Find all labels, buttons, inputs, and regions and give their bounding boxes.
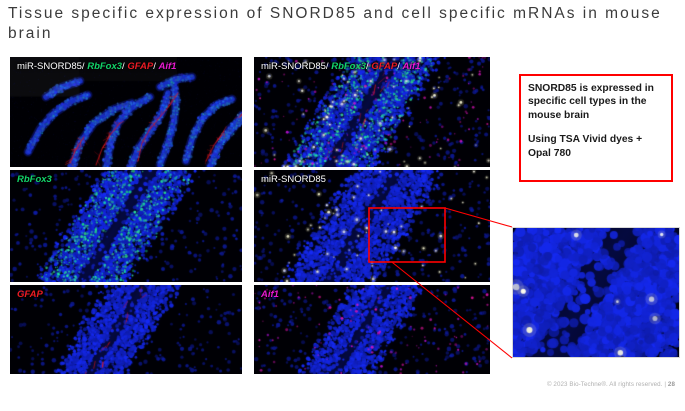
panel-overview-merged-label-seg-5: Aif1 (158, 61, 176, 72)
callout-line-2: Using TSA Vivid dyes + Opal 780 (528, 133, 664, 160)
panel-snord85-image (254, 170, 490, 282)
panel-highmag-merged-label-seg-1: RbFox3 (331, 61, 366, 72)
panel-aif1: Aif1 (254, 285, 490, 374)
panel-overview-merged-label-seg-1: RbFox3 (87, 61, 122, 72)
panel-rbfox3: RbFox3 (10, 170, 242, 282)
panel-gfap-label-seg-0: GFAP (17, 289, 43, 300)
panel-aif1-label: Aif1 (261, 289, 279, 301)
panel-highmag-merged-label-seg-5: Aif1 (402, 61, 420, 72)
inset-image (513, 228, 679, 357)
panel-aif1-image (254, 285, 490, 374)
panel-overview-merged: miR-SNORD85/ RbFox3/ GFAP/ Aif1 (10, 57, 242, 167)
panel-overview-merged-label: miR-SNORD85/ RbFox3/ GFAP/ Aif1 (17, 61, 176, 73)
callout-line-1: SNORD85 is expressed in specific cell ty… (528, 82, 664, 122)
slide-title: Tissue specific expression of SNORD85 an… (8, 4, 668, 44)
callout-box: SNORD85 is expressed in specific cell ty… (519, 74, 673, 182)
footer-page-number: 28 (668, 381, 675, 388)
panel-gfap: GFAP (10, 285, 242, 374)
panel-highmag-merged-label-seg-3: GFAP (371, 61, 397, 72)
inset-snord85-magnified (512, 227, 680, 358)
micrograph-panel-grid: miR-SNORD85/ RbFox3/ GFAP/ Aif1miR-SNORD… (4, 55, 492, 376)
footer-text: © 2023 Bio-Techne®. All rights reserved.… (547, 381, 668, 388)
panel-gfap-image (10, 285, 242, 374)
panel-highmag-merged-label: miR-SNORD85/ RbFox3/ GFAP/ Aif1 (261, 61, 420, 73)
panel-snord85: miR-SNORD85 (254, 170, 490, 282)
panel-gfap-label: GFAP (17, 289, 43, 301)
panel-snord85-label: miR-SNORD85 (261, 174, 326, 186)
panel-rbfox3-label-seg-0: RbFox3 (17, 174, 52, 185)
panel-rbfox3-label: RbFox3 (17, 174, 52, 186)
footer-copyright: © 2023 Bio-Techne®. All rights reserved.… (547, 381, 675, 388)
panel-aif1-label-seg-0: Aif1 (261, 289, 279, 300)
panel-overview-merged-label-seg-0: miR-SNORD85/ (17, 61, 87, 72)
panel-rbfox3-image (10, 170, 242, 282)
panel-overview-merged-label-seg-3: GFAP (127, 61, 153, 72)
panel-snord85-label-seg-0: miR-SNORD85 (261, 174, 326, 185)
panel-overview-merged-image (10, 57, 242, 167)
panel-highmag-merged: miR-SNORD85/ RbFox3/ GFAP/ Aif1 (254, 57, 490, 167)
panel-highmag-merged-image (254, 57, 490, 167)
panel-highmag-merged-label-seg-0: miR-SNORD85/ (261, 61, 331, 72)
